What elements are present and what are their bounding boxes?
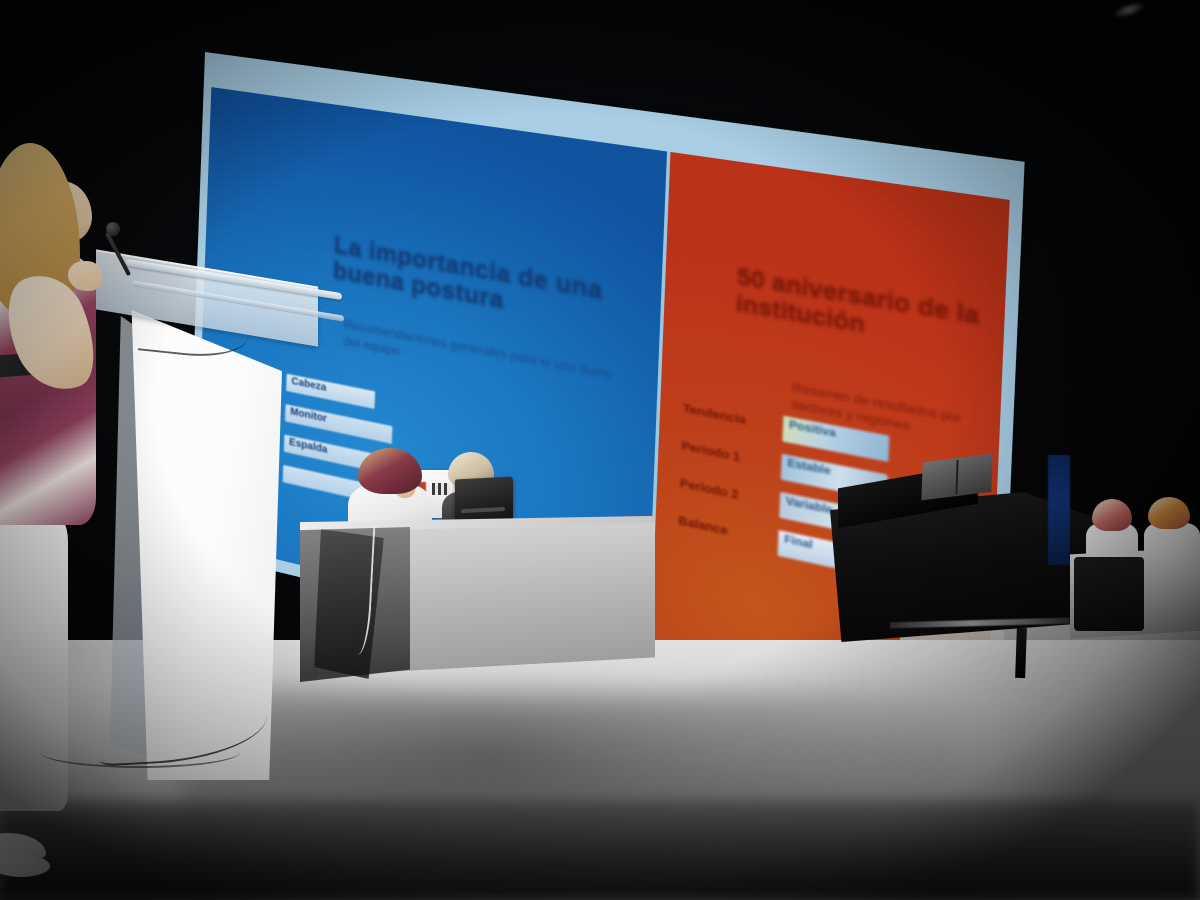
laptop-hinge [461, 507, 505, 513]
piano-music-stand [921, 454, 992, 501]
slide-red-row-label: Periodo 2 [680, 477, 766, 508]
conference-stage-photo: La importancia de una buena postura Reco… [0, 0, 1200, 900]
speaker-hand [68, 261, 102, 291]
slide-blue-title: La importancia de una buena postura [333, 231, 633, 337]
background-blue-strip [1048, 455, 1070, 565]
piano-music-stand-split [955, 460, 958, 494]
panel-table [300, 523, 655, 695]
speaker-at-podium [0, 143, 122, 783]
slide-red-title: 50 aniversario de la institución [735, 263, 983, 359]
black-laptop [455, 476, 513, 523]
slide-red-row-label: Tendencia [683, 403, 769, 433]
floor-foreground-shadow [0, 800, 1200, 900]
right-attendee-1-hair [1092, 499, 1132, 531]
piano-leg [1015, 628, 1027, 678]
seated-person-hair [358, 448, 422, 494]
right-table-group [1070, 495, 1200, 635]
right-attendee-2-hair [1148, 497, 1190, 529]
right-chair-back [1074, 557, 1144, 631]
speaker-trousers [0, 511, 68, 811]
slide-red-row-label: Balance [678, 515, 764, 547]
floor-cable-2 [40, 736, 240, 768]
slide-red-row-label: Periodo 1 [681, 440, 767, 470]
